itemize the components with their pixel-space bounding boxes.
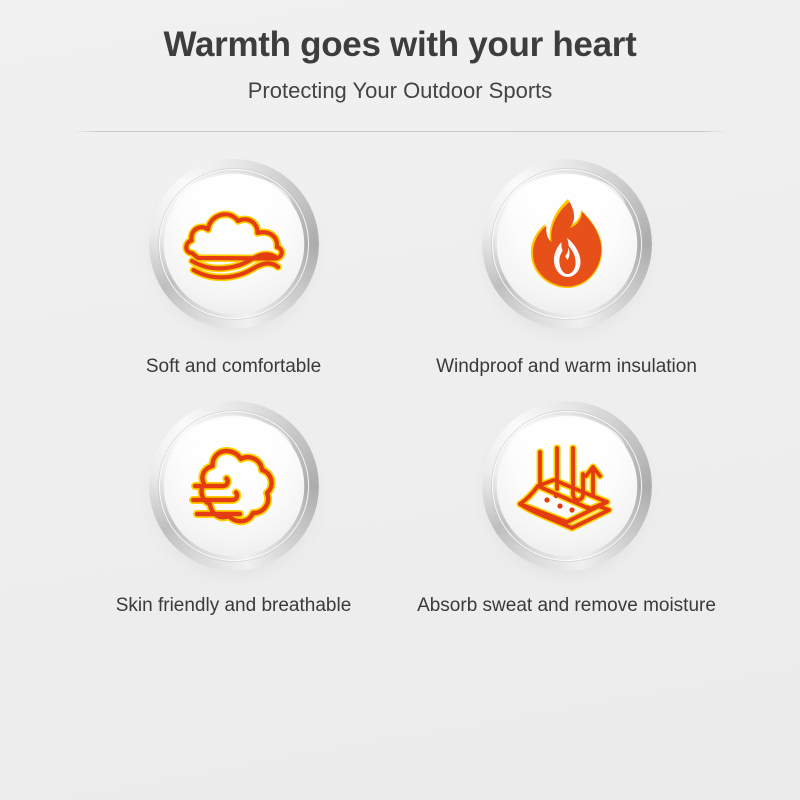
flame-icon <box>487 164 647 324</box>
feature-icon-button-1[interactable] <box>154 164 314 324</box>
header-divider <box>72 131 728 132</box>
feature-icon-button-2[interactable] <box>487 164 647 324</box>
feature-icon-button-4[interactable] <box>487 406 647 566</box>
cloud-wind-icon <box>154 406 314 566</box>
page-header: Warmth goes with your heart Protecting Y… <box>0 0 800 132</box>
feature-grid: Soft and comfortable <box>0 164 800 619</box>
page-title: Warmth goes with your heart <box>0 24 800 65</box>
feature-item-soft-and-comfortable: Soft and comfortable <box>67 164 400 379</box>
feature-row-1: Soft and comfortable <box>0 164 800 379</box>
feature-item-absorb-sweat-and-remove-moisture: Absorb sweat and remove moisture <box>400 406 733 618</box>
feature-item-skin-friendly-and-breathable: Skin friendly and breathable <box>67 406 400 618</box>
cloud-wave-icon <box>154 164 314 324</box>
feature-highlight-page: Warmth goes with your heart Protecting Y… <box>0 0 800 800</box>
page-subtitle: Protecting Your Outdoor Sports <box>0 78 800 104</box>
feature-label-4: Absorb sweat and remove moisture <box>417 594 716 618</box>
feature-label-3: Skin friendly and breathable <box>116 594 352 618</box>
feature-label-1: Soft and comfortable <box>146 355 321 379</box>
feature-icon-button-3[interactable] <box>154 406 314 566</box>
feature-row-2: Skin friendly and breathable <box>0 406 800 618</box>
fabric-moisture-wicking-icon <box>487 406 647 566</box>
feature-item-windproof-and-warm-insulation: Windproof and warm insulation <box>400 164 733 379</box>
feature-label-2: Windproof and warm insulation <box>436 355 697 379</box>
